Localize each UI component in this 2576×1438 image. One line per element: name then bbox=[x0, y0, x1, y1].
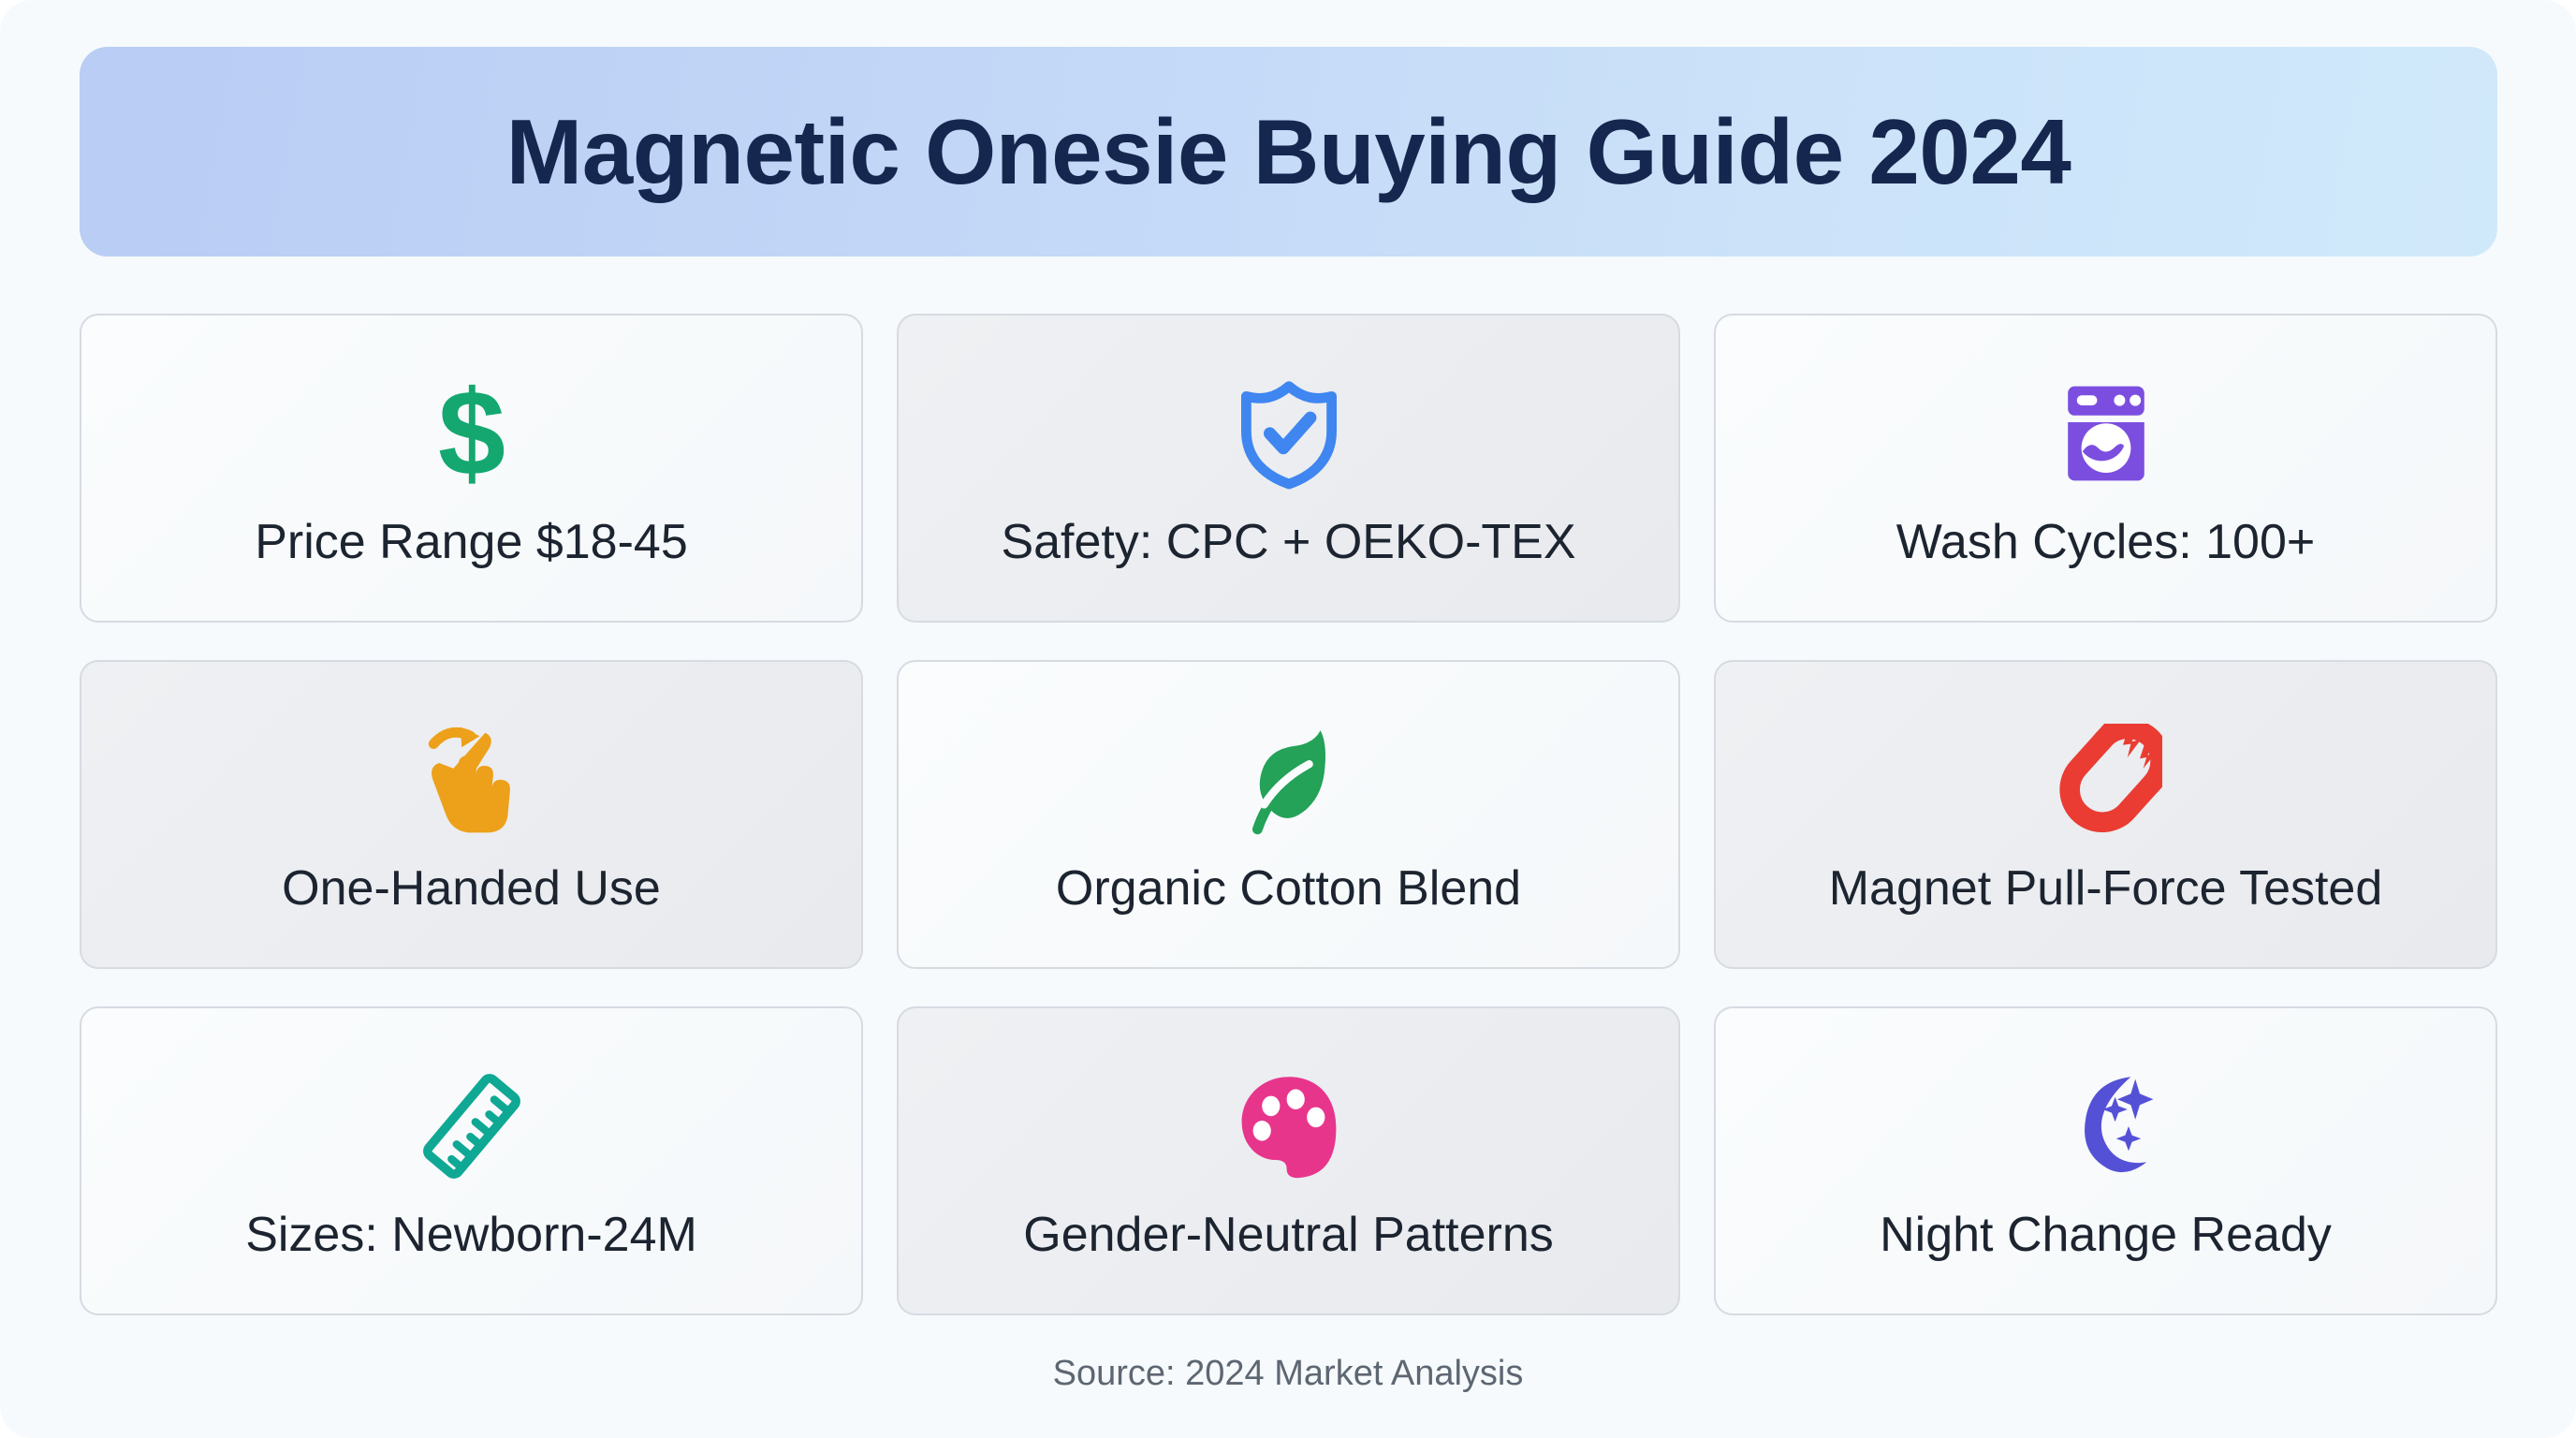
page-title: Magnetic Onesie Buying Guide 2024 bbox=[506, 106, 2071, 198]
feature-card[interactable]: One-Handed Use bbox=[80, 660, 863, 969]
paint-palette-icon bbox=[1233, 1070, 1345, 1182]
source-caption: Source: 2024 Market Analysis bbox=[0, 1356, 2576, 1391]
feature-card[interactable]: Gender-Neutral Patterns bbox=[897, 1006, 1680, 1315]
feature-card-label: Night Change Ready bbox=[1880, 1211, 2332, 1259]
feature-card-label: Sizes: Newborn-24M bbox=[245, 1211, 697, 1259]
feature-card[interactable]: $Price Range $18-45 bbox=[80, 314, 863, 623]
dollar-sign-icon: $ bbox=[416, 377, 528, 490]
feature-card[interactable]: Organic Cotton Blend bbox=[897, 660, 1680, 969]
feature-card-label: Safety: CPC + OEKO-TEX bbox=[1001, 518, 1575, 566]
ruler-icon bbox=[416, 1070, 528, 1182]
washing-machine-icon bbox=[2050, 377, 2162, 490]
feature-card[interactable]: Safety: CPC + OEKO-TEX bbox=[897, 314, 1680, 623]
feature-card-label: Organic Cotton Blend bbox=[1056, 864, 1521, 913]
feature-card[interactable]: Wash Cycles: 100+ bbox=[1714, 314, 2497, 623]
feature-card[interactable]: Night Change Ready bbox=[1714, 1006, 2497, 1315]
feature-card-label: Price Range $18-45 bbox=[255, 518, 688, 566]
feature-card-label: Magnet Pull-Force Tested bbox=[1829, 864, 2383, 913]
title-banner: Magnetic Onesie Buying Guide 2024 bbox=[80, 47, 2497, 257]
svg-text:$: $ bbox=[437, 377, 505, 490]
shield-check-icon bbox=[1233, 377, 1345, 490]
hand-tap-gesture-icon bbox=[416, 724, 528, 836]
feature-card-grid: $Price Range $18-45Safety: CPC + OEKO-TE… bbox=[80, 314, 2497, 1315]
feature-card[interactable]: Sizes: Newborn-24M bbox=[80, 1006, 863, 1315]
feature-card[interactable]: Magnet Pull-Force Tested bbox=[1714, 660, 2497, 969]
crescent-moon-stars-icon bbox=[2050, 1070, 2162, 1182]
leaf-icon bbox=[1233, 724, 1345, 836]
infographic-page: Magnetic Onesie Buying Guide 2024 $Price… bbox=[0, 0, 2576, 1438]
feature-card-label: One-Handed Use bbox=[282, 864, 661, 913]
magnet-icon bbox=[2050, 724, 2162, 836]
feature-card-label: Wash Cycles: 100+ bbox=[1896, 518, 2315, 566]
feature-card-label: Gender-Neutral Patterns bbox=[1023, 1211, 1554, 1259]
